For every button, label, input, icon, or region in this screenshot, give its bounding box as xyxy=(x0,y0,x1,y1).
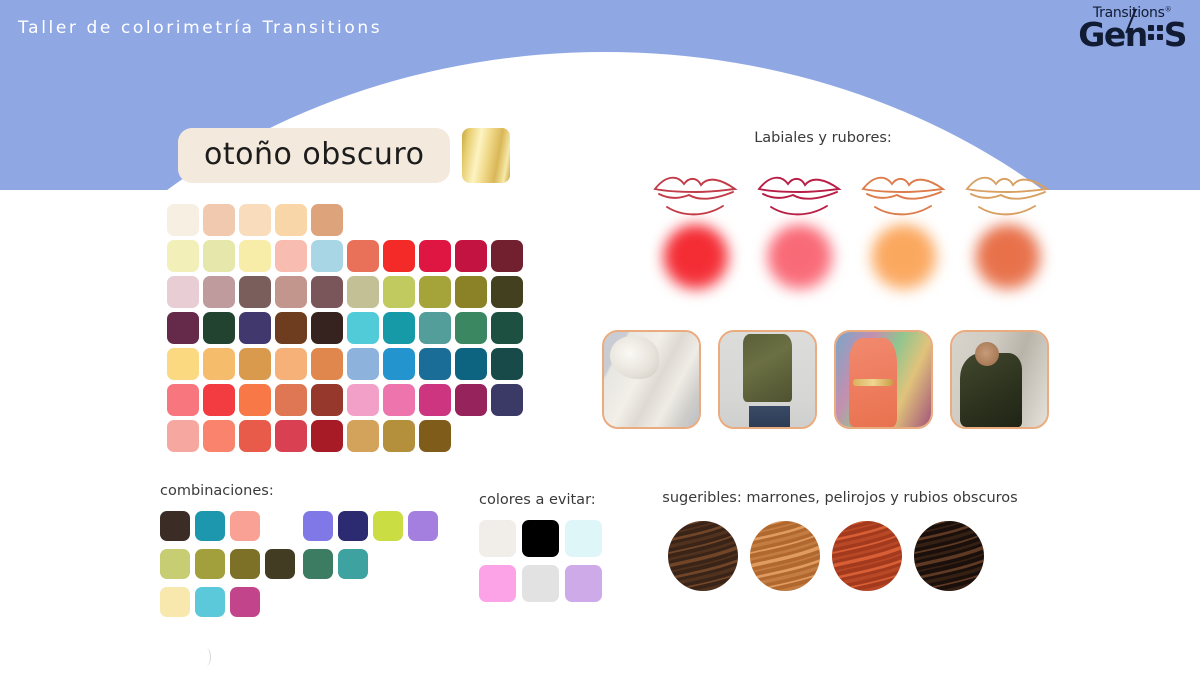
palette-swatch xyxy=(167,276,199,308)
palette-swatch xyxy=(419,240,451,272)
palette-swatch xyxy=(419,312,451,344)
palette-swatch xyxy=(383,312,415,344)
outfit-image-cream-coat xyxy=(604,332,699,427)
blush-swatch xyxy=(651,224,741,290)
combination-row xyxy=(160,511,295,541)
palette-swatch xyxy=(167,384,199,416)
dark-brown-hair xyxy=(668,521,738,591)
avoid-color-row xyxy=(479,565,602,602)
palette-swatch xyxy=(275,204,307,236)
palette-swatch xyxy=(311,312,343,344)
palette-swatch xyxy=(491,384,523,416)
palette-swatch xyxy=(347,384,379,416)
logo-gen-text: Gen xyxy=(1078,18,1146,51)
palette-swatch xyxy=(383,348,415,380)
blush-swatch-row xyxy=(651,224,1076,290)
palette-swatch xyxy=(275,312,307,344)
palette-swatch xyxy=(455,348,487,380)
combination-swatch xyxy=(195,587,225,617)
palette-swatch xyxy=(275,420,307,452)
palette-swatch xyxy=(491,348,523,380)
four-squares-icon xyxy=(1148,25,1163,40)
avoid-colors-title: colores a evitar: xyxy=(479,492,602,508)
logo-s-text: S xyxy=(1164,18,1186,51)
lips-and-blush-section: Labiales y rubores: xyxy=(596,130,1076,290)
combination-swatch xyxy=(408,511,438,541)
palette-swatch xyxy=(203,384,235,416)
combination-swatch xyxy=(373,511,403,541)
blush-swatch xyxy=(755,224,845,290)
combination-row xyxy=(303,549,438,579)
combinations-left-group xyxy=(160,511,295,617)
palette-swatch xyxy=(275,348,307,380)
palette-swatch xyxy=(491,240,523,272)
palette-swatch xyxy=(203,240,235,272)
blush-circle xyxy=(663,224,729,290)
palette-swatch xyxy=(311,348,343,380)
combination-swatch xyxy=(230,549,260,579)
blush-swatch xyxy=(859,224,949,290)
logo-registered-mark: ® xyxy=(1165,5,1172,13)
outfit-image-coral-dress xyxy=(836,332,931,427)
logo-wordmark-transitions: Transitions® xyxy=(1078,6,1186,20)
lips-section-title: Labiales y rubores: xyxy=(608,130,1038,146)
combination-row xyxy=(160,549,295,579)
palette-row xyxy=(167,240,523,272)
lipstick-icon xyxy=(651,168,741,220)
blush-circle xyxy=(975,224,1041,290)
palette-swatch xyxy=(419,384,451,416)
hair-colors-section: sugeribles: marrones, pelirojos y rubios… xyxy=(660,488,1020,591)
combination-swatch xyxy=(160,511,190,541)
palette-swatch xyxy=(203,204,235,236)
blush-circle xyxy=(767,224,833,290)
palette-swatch xyxy=(167,204,199,236)
combination-swatch xyxy=(303,549,333,579)
combination-swatch xyxy=(338,549,368,579)
palette-swatch xyxy=(239,312,271,344)
palette-swatch xyxy=(383,240,415,272)
avoid-colors-body xyxy=(479,520,602,602)
gold-metal-swatch xyxy=(462,128,510,183)
palette-swatch xyxy=(455,312,487,344)
black-brown-hair xyxy=(914,521,984,591)
combinations-title: combinaciones: xyxy=(160,483,438,499)
outfit-photo-3 xyxy=(834,330,933,429)
palette-swatch xyxy=(419,276,451,308)
combination-swatch xyxy=(230,587,260,617)
avoid-colors-section: colores a evitar: xyxy=(479,492,602,610)
hair-colors-title: sugeribles: marrones, pelirojos y rubios… xyxy=(660,488,1020,509)
palette-swatch xyxy=(311,204,343,236)
avoid-color-swatch xyxy=(522,565,559,602)
combination-swatch xyxy=(160,587,190,617)
palette-swatch xyxy=(491,276,523,308)
palette-swatch xyxy=(419,420,451,452)
palette-swatch xyxy=(455,240,487,272)
combination-swatch xyxy=(265,549,295,579)
lipstick-icon xyxy=(859,168,949,220)
palette-row xyxy=(167,348,523,380)
main-color-palette xyxy=(167,204,523,452)
season-header: otoño obscuro xyxy=(178,128,510,183)
blush-circle xyxy=(871,224,937,290)
combination-swatch xyxy=(338,511,368,541)
palette-swatch xyxy=(239,420,271,452)
avoid-color-swatch xyxy=(479,520,516,557)
outfit-photo-4 xyxy=(950,330,1049,429)
palette-swatch xyxy=(239,384,271,416)
palette-swatch xyxy=(239,240,271,272)
palette-row xyxy=(167,312,523,344)
avoid-color-swatch xyxy=(565,520,602,557)
transitions-gen-s-logo: Transitions® Gen S xyxy=(1078,6,1186,51)
outfit-photo-2 xyxy=(718,330,817,429)
outfit-photo-1 xyxy=(602,330,701,429)
combination-swatch xyxy=(230,511,260,541)
combination-swatch xyxy=(303,511,333,541)
outfit-photo-row xyxy=(602,330,1049,429)
palette-swatch xyxy=(455,384,487,416)
combination-row xyxy=(303,511,438,541)
palette-swatch xyxy=(347,240,379,272)
palette-swatch xyxy=(203,312,235,344)
palette-swatch xyxy=(347,276,379,308)
avoid-color-swatch xyxy=(565,565,602,602)
palette-swatch xyxy=(203,276,235,308)
hair-strand-texture xyxy=(914,521,984,591)
palette-swatch xyxy=(239,204,271,236)
combination-swatch xyxy=(195,549,225,579)
lipstick-swatch-row xyxy=(651,168,1076,220)
combination-row xyxy=(160,587,295,617)
palette-swatch xyxy=(383,420,415,452)
palette-swatch xyxy=(491,312,523,344)
hair-swatch-row xyxy=(668,521,1020,591)
palette-swatch xyxy=(239,276,271,308)
blush-swatch xyxy=(963,224,1053,290)
combinations-section: combinaciones: xyxy=(160,483,438,617)
hair-strand-texture xyxy=(750,521,820,591)
palette-swatch xyxy=(275,276,307,308)
palette-row xyxy=(167,204,523,236)
palette-swatch xyxy=(311,276,343,308)
palette-swatch xyxy=(203,348,235,380)
combination-swatch xyxy=(195,511,225,541)
avoid-color-swatch xyxy=(522,520,559,557)
palette-swatch xyxy=(311,420,343,452)
palette-swatch xyxy=(167,348,199,380)
season-name-pill: otoño obscuro xyxy=(178,128,450,183)
palette-swatch xyxy=(275,384,307,416)
palette-row xyxy=(167,276,523,308)
palette-swatch xyxy=(167,240,199,272)
palette-swatch xyxy=(383,276,415,308)
logo-gen-s: Gen S xyxy=(1078,18,1186,51)
palette-swatch xyxy=(275,240,307,272)
avoid-color-swatch xyxy=(479,565,516,602)
lipstick-icon xyxy=(755,168,845,220)
palette-swatch xyxy=(347,420,379,452)
combination-swatch xyxy=(160,549,190,579)
palette-swatch xyxy=(455,276,487,308)
lipstick-icon xyxy=(963,168,1053,220)
palette-swatch xyxy=(203,420,235,452)
combinations-right-group xyxy=(303,511,438,617)
golden-copper-hair xyxy=(750,521,820,591)
palette-swatch xyxy=(239,348,271,380)
outfit-image-dark-olive-top xyxy=(952,332,1047,427)
palette-swatch xyxy=(347,312,379,344)
palette-swatch xyxy=(167,420,199,452)
combinations-body xyxy=(160,511,438,617)
red-copper-hair xyxy=(832,521,902,591)
palette-swatch xyxy=(311,384,343,416)
palette-row xyxy=(167,384,523,416)
hair-strand-texture xyxy=(832,521,902,591)
outfit-image-olive-tshirt xyxy=(720,332,815,427)
hair-strand-texture xyxy=(668,521,738,591)
palette-swatch xyxy=(383,384,415,416)
page-title: Taller de colorimetría Transitions xyxy=(18,18,382,38)
palette-swatch xyxy=(167,312,199,344)
avoid-color-row xyxy=(479,520,602,557)
logo-transitions-text: Transitions xyxy=(1093,5,1165,21)
palette-row xyxy=(167,420,523,452)
palette-swatch xyxy=(311,240,343,272)
palette-swatch xyxy=(347,348,379,380)
palette-swatch xyxy=(419,348,451,380)
stray-pen-mark xyxy=(203,648,211,666)
